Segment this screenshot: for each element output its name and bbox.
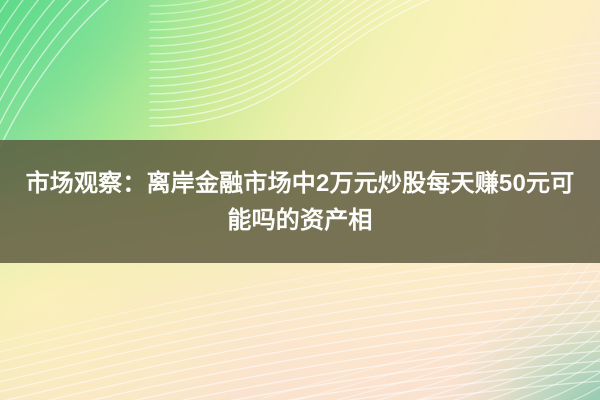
caption-band: 市场观察：离岸金融市场中2万元炒股每天赚50元可能吗的资产相 bbox=[0, 140, 600, 263]
poster-headline: 市场观察：离岸金融市场中2万元炒股每天赚50元可能吗的资产相 bbox=[18, 165, 582, 239]
poster-canvas: 市场观察：离岸金融市场中2万元炒股每天赚50元可能吗的资产相 bbox=[0, 0, 600, 400]
